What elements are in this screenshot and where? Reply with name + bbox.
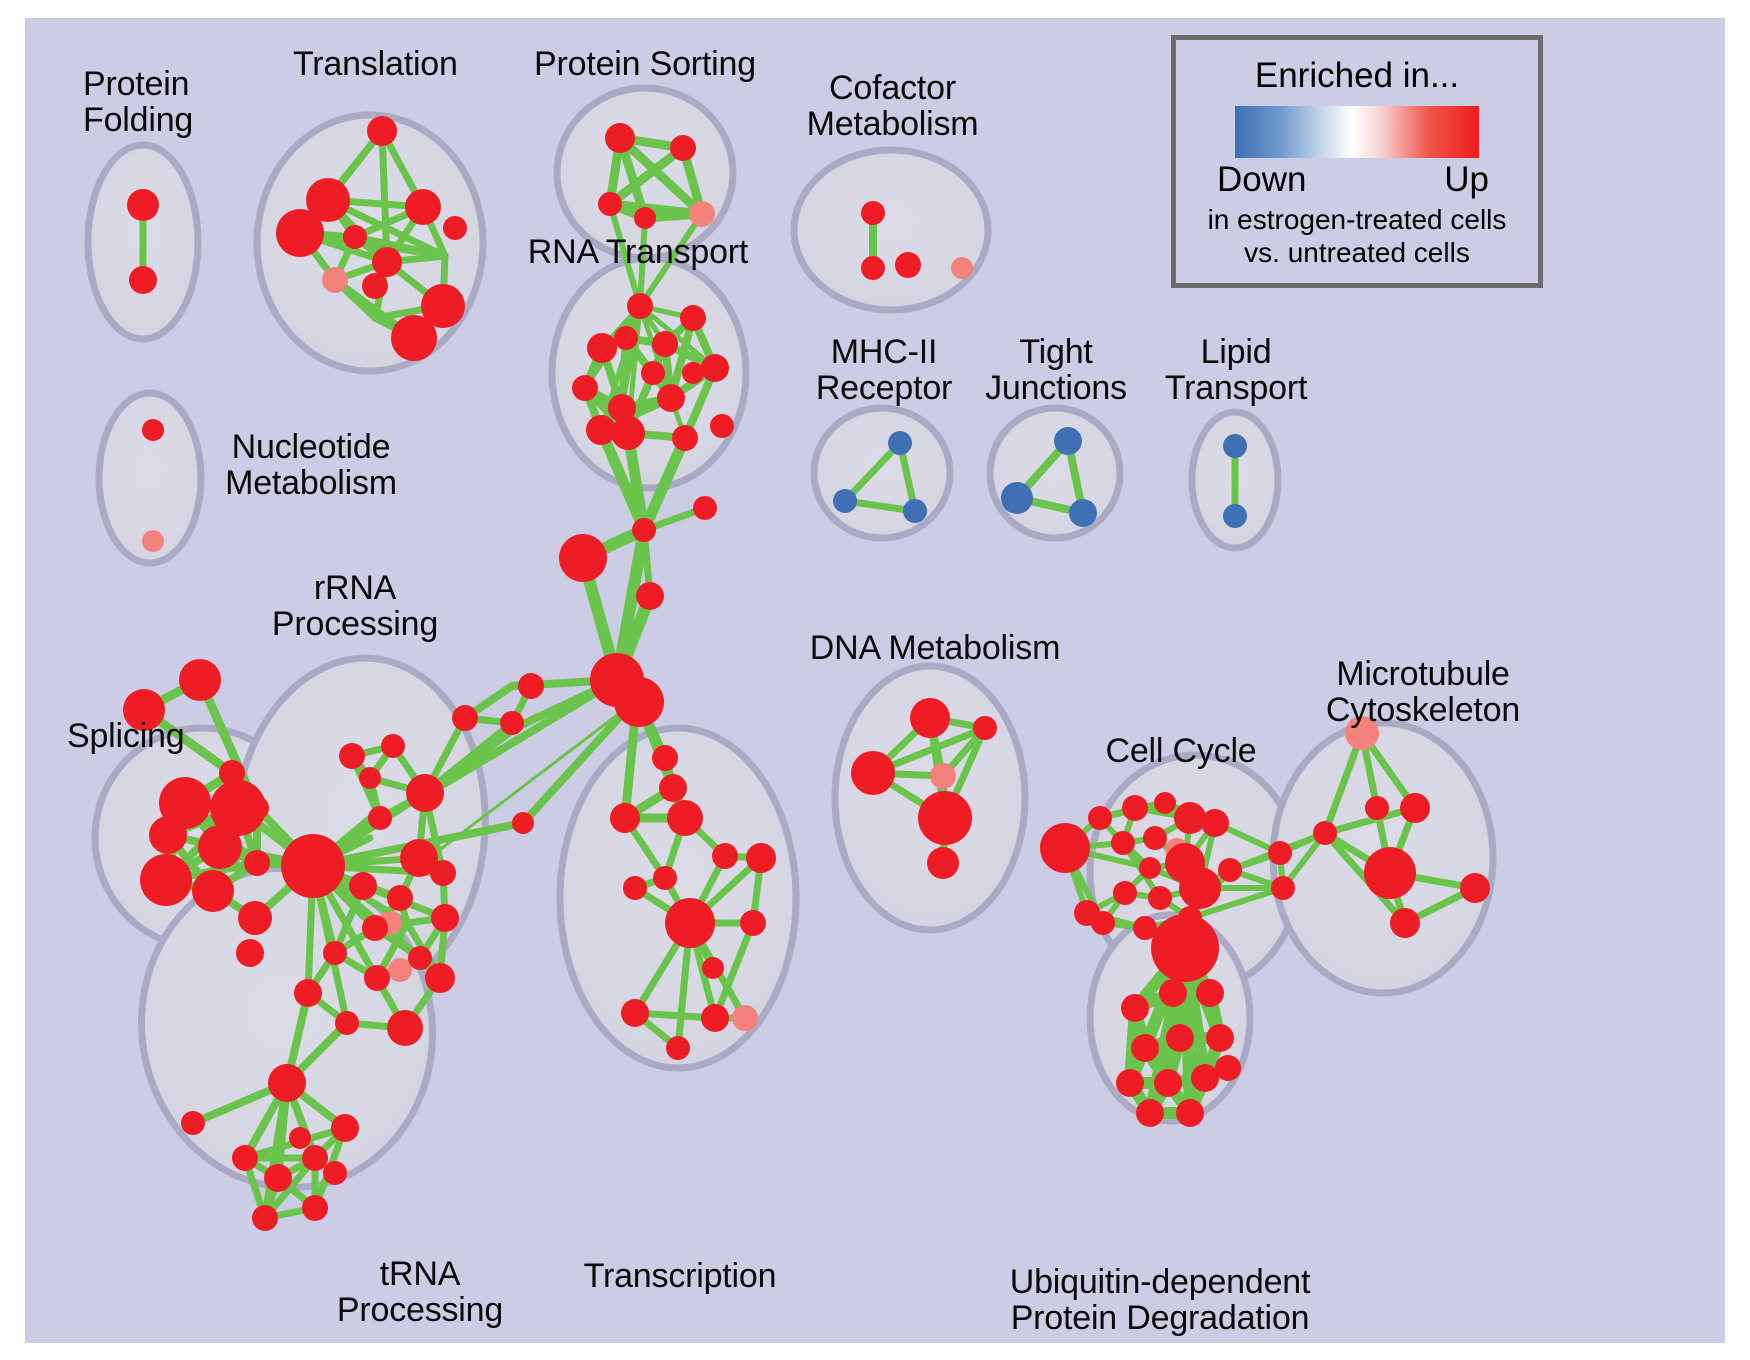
legend-caption-line-1: in estrogen-treated cells (1176, 204, 1538, 235)
blob-cofactor (794, 150, 988, 310)
legend-box: Enriched in... Down Up in estrogen-treat… (1171, 35, 1543, 288)
figure-canvas: .blob{fill:url(#blobG);stroke:#aaaac4;st… (0, 0, 1750, 1360)
legend-endpoint-labels: Down Up (1217, 160, 1497, 202)
legend-title: Enriched in... (1176, 56, 1538, 96)
legend-color-gradient-bar (1235, 106, 1479, 158)
blob-tight-junctions (990, 408, 1120, 538)
blob-mhc (814, 408, 950, 538)
legend-caption-line-2: vs. untreated cells (1176, 237, 1538, 268)
legend-high-label: Up (1444, 160, 1489, 200)
legend-low-label: Down (1217, 160, 1306, 200)
network-plot-area: .blob{fill:url(#blobG);stroke:#aaaac4;st… (25, 18, 1725, 1343)
